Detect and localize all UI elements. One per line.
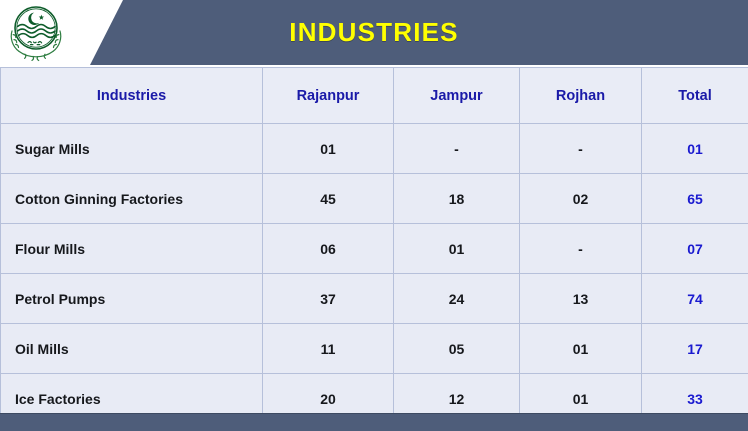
punjab-government-emblem-icon [3, 1, 69, 65]
cell-rojhan: 01 [520, 324, 642, 374]
table-row: Oil Mills 11 05 01 17 [1, 324, 748, 374]
cell-rojhan: - [520, 124, 642, 174]
cell-industry-name: Cotton Ginning Factories [1, 174, 263, 224]
cell-rajanpur: 01 [263, 124, 394, 174]
header-banner: INDUSTRIES [0, 0, 748, 65]
column-header-rajanpur: Rajanpur [263, 68, 394, 124]
column-header-jampur: Jampur [394, 68, 520, 124]
cell-rajanpur: 06 [263, 224, 394, 274]
cell-rojhan: 02 [520, 174, 642, 224]
industries-table: Industries Rajanpur Jampur Rojhan Total … [0, 67, 748, 424]
cell-total: 17 [642, 324, 748, 374]
cell-rojhan: - [520, 224, 642, 274]
cell-rajanpur: 45 [263, 174, 394, 224]
footer-bar [0, 413, 748, 431]
column-header-rojhan: Rojhan [520, 68, 642, 124]
table-row: Sugar Mills 01 - - 01 [1, 124, 748, 174]
cell-total: 74 [642, 274, 748, 324]
table-row: Cotton Ginning Factories 45 18 02 65 [1, 174, 748, 224]
table-header-row: Industries Rajanpur Jampur Rojhan Total [1, 68, 748, 124]
industries-table-container: Industries Rajanpur Jampur Rojhan Total … [0, 67, 748, 424]
cell-total: 07 [642, 224, 748, 274]
cell-jampur: 01 [394, 224, 520, 274]
table-row: Flour Mills 06 01 - 07 [1, 224, 748, 274]
cell-total: 65 [642, 174, 748, 224]
table-row: Petrol Pumps 37 24 13 74 [1, 274, 748, 324]
cell-total: 01 [642, 124, 748, 174]
cell-jampur: 24 [394, 274, 520, 324]
cell-jampur: 05 [394, 324, 520, 374]
cell-jampur: - [394, 124, 520, 174]
cell-rajanpur: 37 [263, 274, 394, 324]
table-body: Sugar Mills 01 - - 01 Cotton Ginning Fac… [1, 124, 748, 424]
cell-jampur: 18 [394, 174, 520, 224]
cell-rojhan: 13 [520, 274, 642, 324]
cell-industry-name: Petrol Pumps [1, 274, 263, 324]
cell-industry-name: Sugar Mills [1, 124, 263, 174]
cell-rajanpur: 11 [263, 324, 394, 374]
page-title: INDUSTRIES [0, 0, 748, 65]
cell-industry-name: Flour Mills [1, 224, 263, 274]
table-header: Industries Rajanpur Jampur Rojhan Total [1, 68, 748, 124]
cell-industry-name: Oil Mills [1, 324, 263, 374]
column-header-total: Total [642, 68, 748, 124]
column-header-industries: Industries [1, 68, 263, 124]
